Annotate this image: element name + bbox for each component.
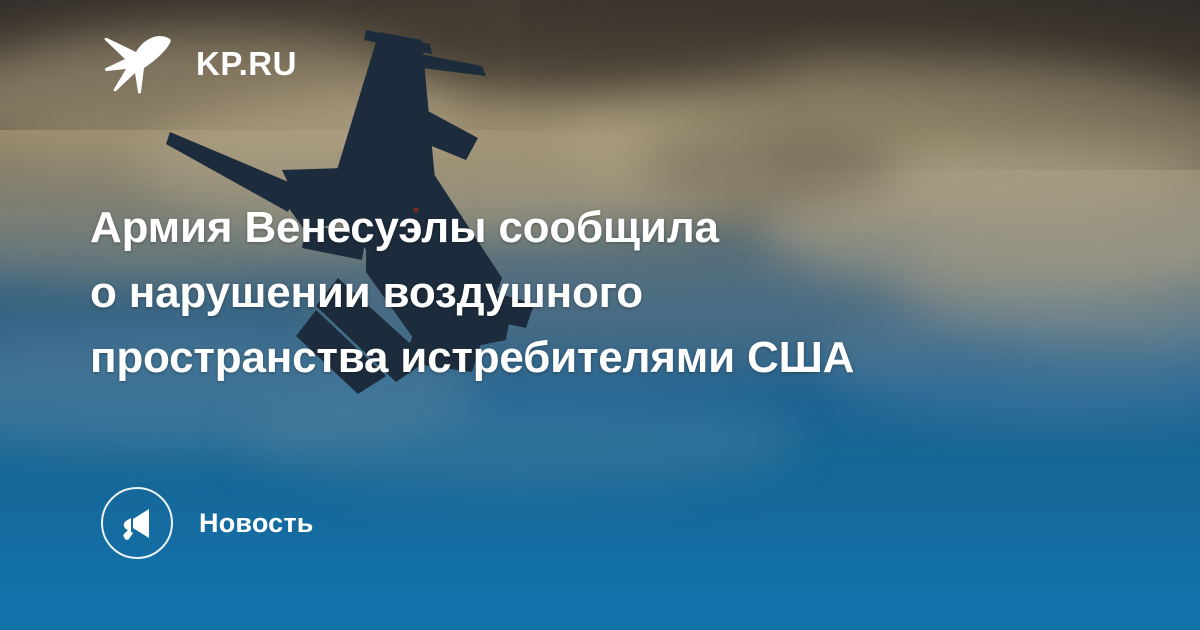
status-badge[interactable]: Новость: [101, 486, 314, 560]
dark-sky-band-top-right: [520, 0, 1200, 170]
brand-name: KP.RU: [196, 47, 297, 80]
headline-line-1: Армия Венесуэлы сообщила: [90, 195, 1110, 260]
headline-line-2: о нарушении воздушного: [90, 260, 1110, 325]
swallow-bird-icon: [104, 32, 178, 94]
megaphone-icon: [101, 487, 173, 559]
status-badge-label: Новость: [199, 510, 314, 537]
headline-line-3: пространства истребителями США: [90, 325, 1110, 390]
brand-logo[interactable]: KP.RU: [104, 33, 297, 93]
news-share-card: KP.RU Армия Венесуэлы сообщила о нарушен…: [0, 0, 1200, 630]
page-title: Армия Венесуэлы сообщила о нарушении воз…: [90, 195, 1110, 390]
